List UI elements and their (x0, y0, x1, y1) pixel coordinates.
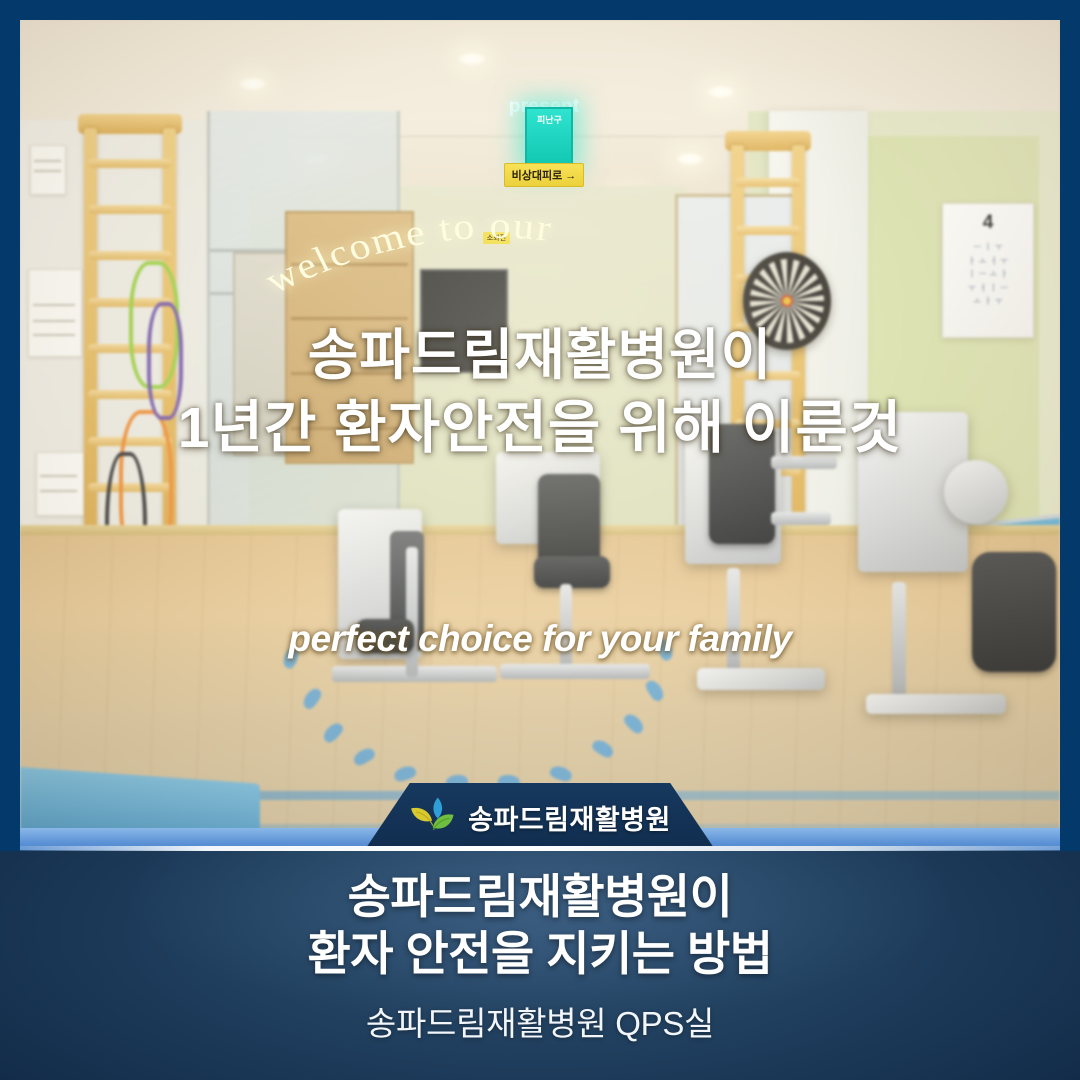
caption-panel: 송파드림재활병원이 환자 안전을 지키는 방법 송파드림재활병원 QPS실 (0, 851, 1080, 1080)
wall-monitor (420, 269, 507, 373)
wall-notice (36, 452, 84, 516)
three-leaf-icon (409, 796, 455, 838)
caption-title-line-1: 송파드림재활병원이 (0, 868, 1080, 925)
evacuation-route-sign: 비상대피로 → (504, 163, 585, 187)
badge-hospital-name: 송파드림재활병원 (468, 798, 671, 837)
bookshelf (285, 211, 414, 464)
poster-number: 4 (943, 209, 1033, 238)
caption-subtitle: 송파드림재활병원 QPS실 (0, 997, 1080, 1045)
wall-notice (30, 145, 66, 195)
hospital-badge: 송파드림재활병원 (364, 783, 716, 850)
wall-notice (28, 269, 82, 357)
emergency-exit-sign: 피난구 (525, 107, 573, 165)
exercise-machine (332, 501, 502, 731)
video-thumbnail[interactable]: 4 ㅡ ㅣ ㅜㅏ ㅗ ㅓ ㅜㅣ ㅡ ㅗ ㅏㅜ ㅓ ㅣ ㅡㅗ ㅏ ㅜ 소화기 (20, 20, 1060, 850)
caption-title: 송파드림재활병원이 환자 안전을 지키는 방법 (0, 851, 1080, 983)
caption-title-line-2: 환자 안전을 지키는 방법 (0, 925, 1080, 982)
exercise-machine (852, 402, 1060, 732)
resistance-band (147, 302, 183, 420)
exercise-machine (478, 452, 658, 702)
dartboard (743, 252, 831, 350)
social-card: 4 ㅡ ㅣ ㅜㅏ ㅗ ㅓ ㅜㅣ ㅡ ㅗ ㅏㅜ ㅓ ㅣ ㅡㅗ ㅏ ㅜ 소화기 (0, 0, 1080, 1080)
exercise-machine (675, 418, 865, 718)
wall-poster: 4 ㅡ ㅣ ㅜㅏ ㅗ ㅓ ㅜㅣ ㅡ ㅗ ㅏㅜ ㅓ ㅣ ㅡㅗ ㅏ ㅜ (942, 203, 1034, 338)
ceiling-light (675, 153, 705, 166)
divider-highlight (20, 846, 1060, 851)
exit-sign-text: 피난구 (527, 109, 571, 125)
small-yellow-sign: 소화전 (483, 232, 510, 244)
